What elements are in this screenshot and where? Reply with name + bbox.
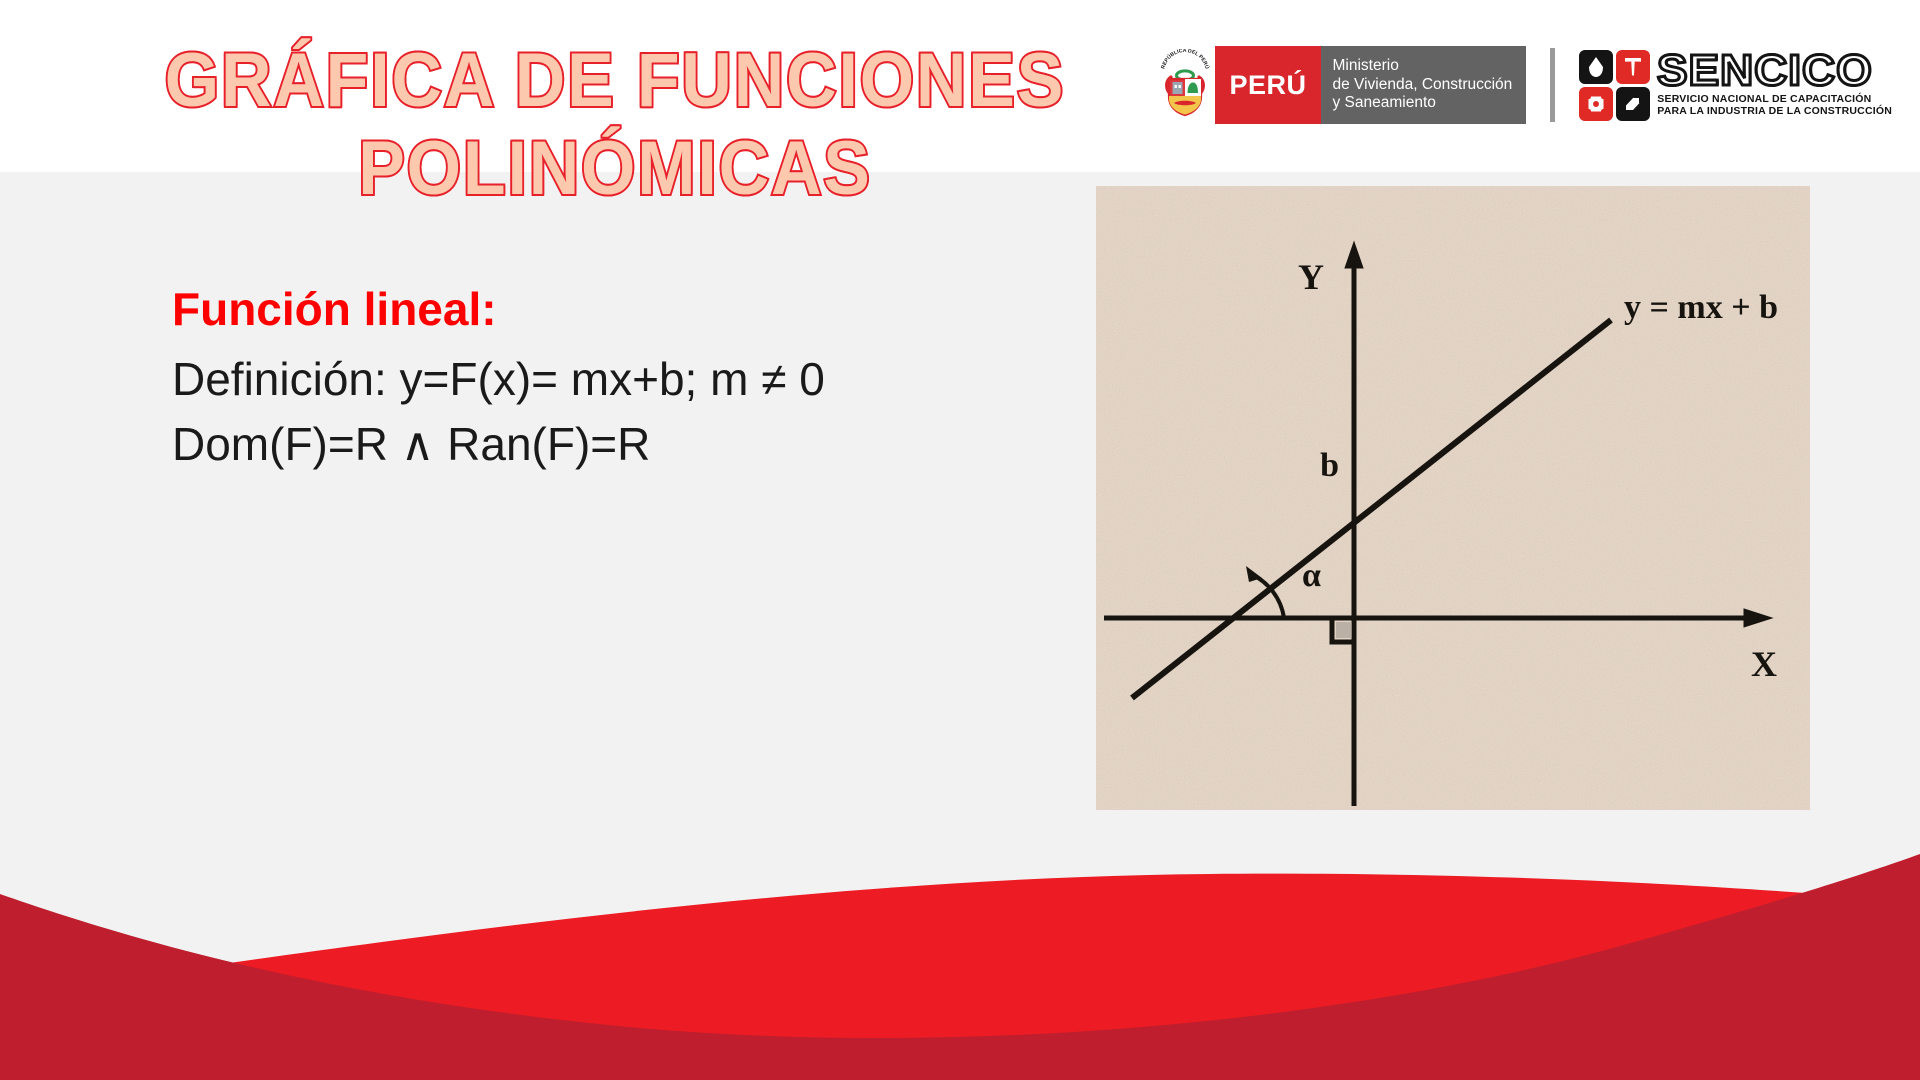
sencico-tagline: SERVICIO NACIONAL DE CAPACITACIÓN PARA L… [1657,93,1892,118]
sencico-tagline-line-2: PARA LA INDUSTRIA DE LA CONSTRUCCIÓN [1657,105,1892,117]
tile-icon [1579,87,1613,121]
wave-dark-red [0,854,1920,1080]
content-body: Función lineal: Definición: y=F(x)= mx+b… [172,282,1052,479]
sencico-word: SENCICO [1657,52,1901,90]
figure-x-label: X [1751,644,1777,684]
pipe-fitting-icon [1616,87,1650,121]
wave-bright-red [0,874,1920,1080]
peru-label: PERÚ [1215,46,1320,124]
logo-divider [1550,48,1555,122]
domain-range-line: Dom(F)=R ∧ Ran(F)=R [172,414,1052,475]
definition-line: Definición: y=F(x)= mx+b; m ≠ 0 [172,349,1052,410]
peru-coat-of-arms-icon: REPÚBLICA DEL PERÚ [1155,46,1215,124]
figure-equation-label: y = mx + b [1624,289,1778,326]
logo-ministerio-vivienda: REPÚBLICA DEL PERÚ [1155,46,1526,124]
svg-text:REPÚBLICA DEL PERÚ: REPÚBLICA DEL PERÚ [1161,49,1211,70]
figure-intercept-label: b [1320,447,1339,484]
slide-canvas: GRÁFICA DE FUNCIONES POLINÓMICAS REPÚBLI… [0,0,1920,1080]
ministerio-name: Ministerio de Vivienda, Construcción y S… [1321,46,1527,124]
ministerio-name-line-1: Ministerio [1333,57,1513,76]
subheading-funcion-lineal: Función lineal: [172,282,1052,337]
t-square-icon [1616,50,1650,84]
ministerio-name-line-2: de Vivienda, Construcción [1333,76,1513,95]
logo-bar: REPÚBLICA DEL PERÚ [1155,46,1892,124]
figure-angle-label: α [1302,557,1321,594]
figure-y-label: Y [1298,257,1324,297]
sencico-wordmark: SENCICO SERVICIO NACIONAL DE CAPACITACIÓ… [1657,52,1892,118]
trowel-icon [1579,50,1613,84]
sencico-icon-grid [1579,50,1650,121]
logo-sencico: SENCICO SERVICIO NACIONAL DE CAPACITACIÓ… [1579,46,1892,124]
ministerio-name-line-3: y Saneamiento [1333,94,1513,113]
linear-function-figure: Y X b α y = mx + b [1096,186,1810,810]
